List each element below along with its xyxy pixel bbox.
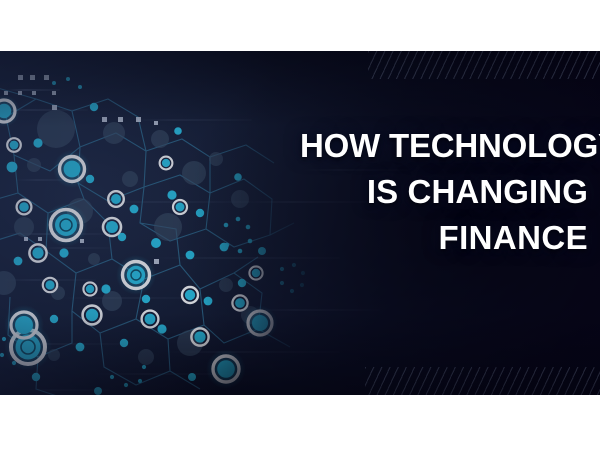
headline-line-1: HOW TECHNOLOGY	[300, 123, 588, 169]
diagonal-stripe-block-bottom-right	[365, 367, 600, 395]
page-title: HOW TECHNOLOGY IS CHANGING FINANCE	[300, 123, 588, 261]
banner-artwork: HOW TECHNOLOGY IS CHANGING FINANCE	[0, 51, 600, 395]
image-frame: HOW TECHNOLOGY IS CHANGING FINANCE	[0, 0, 600, 450]
headline-line-2: IS CHANGING	[300, 169, 588, 215]
headline-line-3: FINANCE	[300, 215, 588, 261]
network-node-graphic	[0, 51, 324, 395]
diagonal-stripe-block-top-right	[368, 51, 600, 79]
